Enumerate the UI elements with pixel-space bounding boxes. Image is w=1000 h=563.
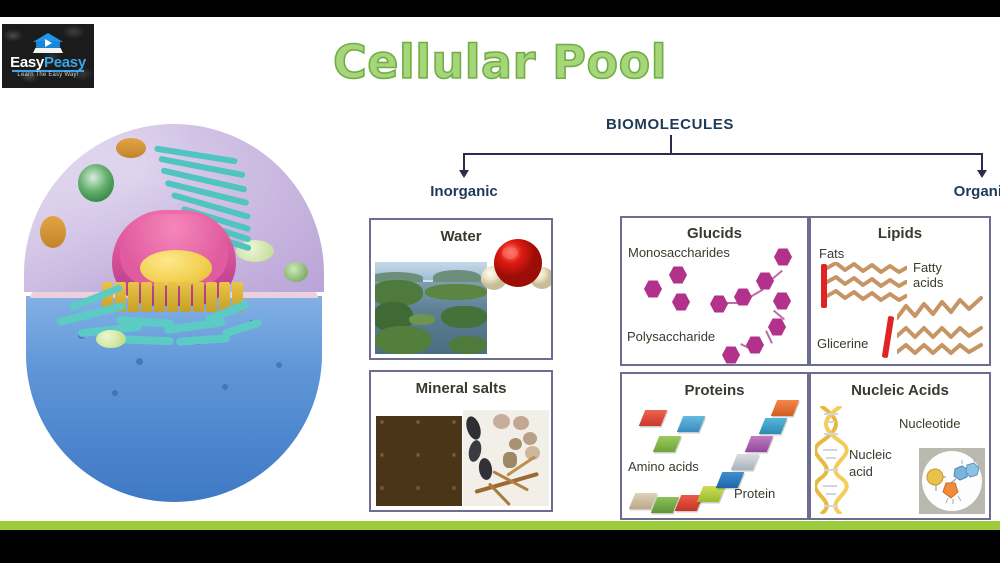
panel-lipids[interactable]: Lipids Fats Fatty acids Glicerine (809, 216, 991, 366)
label-nucleic-acid: Nucleic acid (849, 446, 899, 480)
label-fats: Fats (819, 246, 844, 261)
label-amino-acids: Amino acids (628, 459, 699, 474)
panel-mineral-salts[interactable]: Mineral salts (369, 370, 553, 512)
accent-bar (0, 521, 1000, 530)
fatty-acid-zigzag-chains (827, 262, 907, 312)
arrow-down-icon-right (977, 170, 987, 178)
mitochondria-right (284, 262, 308, 282)
panel-title-water: Water (371, 228, 551, 245)
logo-wordmark: EasyPeasy (8, 55, 88, 70)
easypeasy-logo[interactable]: EasyPeasy Learn The Easy Way! (2, 24, 94, 88)
panel-glucids[interactable]: Glucids Monosaccharides Polysaccharide (620, 216, 809, 366)
vacuole-green (78, 164, 114, 202)
label-fatty-acids: Fatty acids (913, 260, 969, 290)
panel-title-lipids: Lipids (811, 225, 989, 242)
panel-title-glucids: Glucids (622, 225, 807, 242)
branch-label-organic: Organic (928, 183, 1000, 200)
water-molecule-model (480, 236, 553, 296)
panel-proteins[interactable]: Proteins Amino acids Protein (620, 372, 809, 520)
panel-water[interactable]: Water (369, 218, 553, 360)
logo-tagline: Learn The Easy Way! (8, 72, 88, 78)
tree-stem (670, 135, 672, 153)
mitochondria-top (116, 138, 146, 158)
label-protein: Protein (734, 486, 775, 501)
slide-canvas: EasyPeasy Learn The Easy Way! Cellular P… (0, 17, 1000, 530)
label-glicerine: Glicerine (817, 336, 868, 351)
mineral-granules-texture (376, 416, 462, 506)
tree-left-leg (463, 153, 465, 171)
logo-word-2: Peasy (44, 54, 86, 71)
stones-and-crystals-photo (463, 410, 549, 506)
label-nucleotide: Nucleotide (899, 416, 960, 431)
letterbox-top (0, 0, 1000, 17)
panel-title-nucleic-acids: Nucleic Acids (811, 382, 989, 399)
animal-cell-cutaway (8, 122, 338, 512)
graduation-cap-play-icon (33, 33, 63, 54)
tree-right-leg (981, 153, 983, 171)
label-polysaccharide: Polysaccharide (627, 329, 715, 344)
lysosome (96, 330, 126, 348)
panel-title-proteins: Proteins (622, 382, 807, 399)
panel-nucleic-acids[interactable]: Nucleic Acids Nucleotide Nucleic acid (809, 372, 991, 520)
panel-title-mineral-salts: Mineral salts (371, 380, 551, 397)
glycerol-red-bar-2 (882, 316, 894, 358)
nucleolus (140, 250, 212, 286)
arrow-down-icon-left (459, 170, 469, 178)
lake-landscape-photo (375, 262, 487, 354)
biomolecules-tree: BIOMOLECULES Inorganic Organic (380, 102, 960, 212)
dna-double-helix (815, 406, 849, 514)
label-monosaccharides: Monosaccharides (628, 245, 730, 260)
logo-word-1: Easy (10, 54, 44, 71)
mitochondria-left (40, 216, 66, 248)
page-title: Cellular Pool (300, 35, 700, 89)
tree-crossbar (463, 153, 983, 155)
free-fatty-acid-chains (897, 292, 983, 356)
branch-label-inorganic: Inorganic (410, 183, 518, 200)
tree-root-label: BIOMOLECULES (380, 116, 960, 133)
nucleotide-structure-diagram (919, 448, 985, 514)
letterbox-bottom (0, 530, 1000, 563)
slide-root: EasyPeasy Learn The Easy Way! Cellular P… (0, 0, 1000, 563)
